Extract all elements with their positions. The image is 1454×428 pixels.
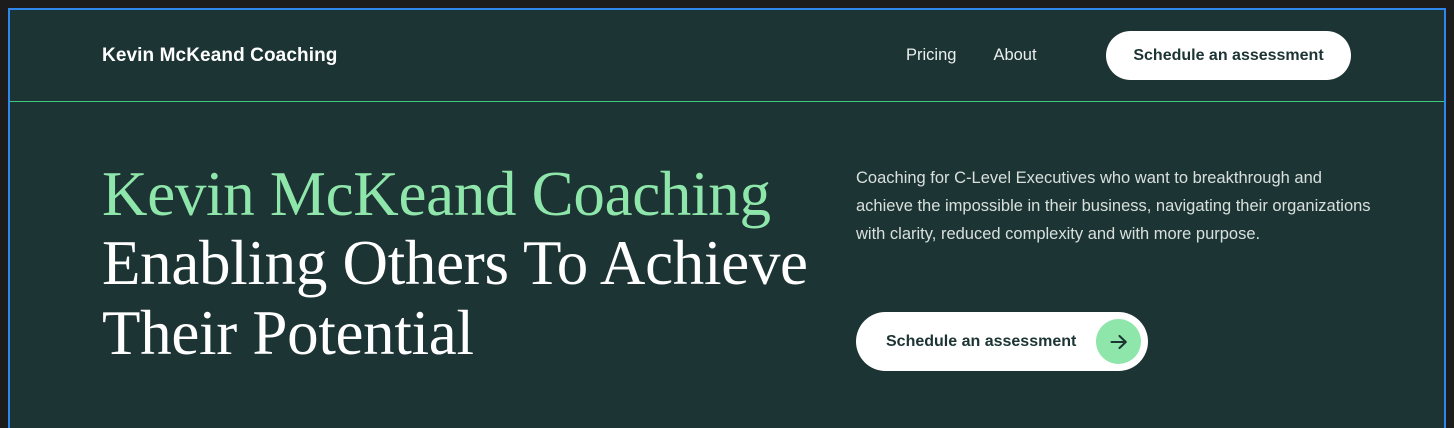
header-schedule-assessment-button[interactable]: Schedule an assessment xyxy=(1106,31,1351,80)
arrow-right-icon xyxy=(1096,319,1141,364)
hero-heading-line-2: Enabling Others To Achieve xyxy=(102,229,808,298)
page-frame: Kevin McKeand Coaching Pricing About Sch… xyxy=(8,8,1446,428)
main-nav: Pricing About xyxy=(906,46,1037,65)
hero-copy: Coaching for C-Level Executives who want… xyxy=(856,164,1371,248)
hero-heading-line-3: Their Potential xyxy=(102,299,808,368)
hero-heading-accent-line: Kevin McKeand Coaching xyxy=(102,160,808,229)
brand-logo[interactable]: Kevin McKeand Coaching xyxy=(102,45,338,67)
hero-heading: Kevin McKeand Coaching Enabling Others T… xyxy=(102,160,808,368)
hero-section: Kevin McKeand Coaching Enabling Others T… xyxy=(10,102,1444,428)
hero-paragraph: Coaching for C-Level Executives who want… xyxy=(856,164,1371,248)
site-header: Kevin McKeand Coaching Pricing About Sch… xyxy=(10,10,1444,102)
nav-link-pricing[interactable]: Pricing xyxy=(906,46,956,65)
hero-schedule-assessment-button[interactable]: Schedule an assessment xyxy=(856,312,1148,371)
hero-cta-label: Schedule an assessment xyxy=(886,333,1076,351)
nav-link-about[interactable]: About xyxy=(993,46,1036,65)
